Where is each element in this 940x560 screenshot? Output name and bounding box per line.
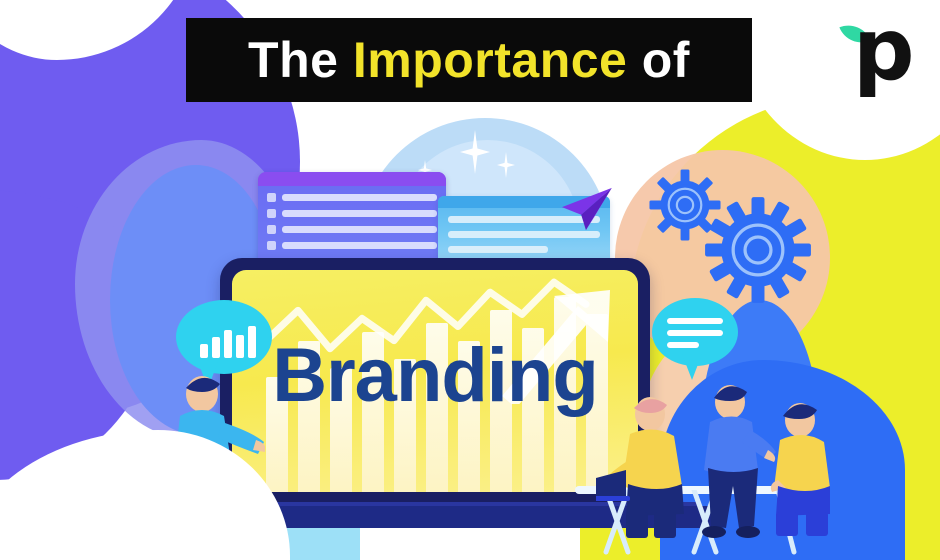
logo-letter: p	[853, 16, 915, 84]
text-line	[282, 210, 437, 217]
bubble-chart-bar	[224, 330, 232, 358]
banner-image: Branding	[0, 0, 940, 560]
text-line	[282, 226, 437, 233]
checklist-row	[267, 193, 437, 202]
bubble-text-line	[667, 342, 699, 348]
bubble-tail	[682, 354, 702, 380]
text-line	[448, 231, 600, 238]
checklist-window	[258, 172, 446, 270]
bubble-text-line	[667, 318, 723, 324]
gear-large-icon	[704, 196, 812, 304]
checklist-row	[267, 241, 437, 250]
title-part-3: of	[627, 32, 690, 88]
bubble-text-line	[667, 330, 723, 336]
laptop-screen: Branding	[232, 270, 638, 492]
checkbox-icon	[267, 193, 276, 202]
title-banner: The Importance of	[186, 18, 752, 102]
bubble-chart-bar	[200, 344, 208, 358]
title-part-1: The	[248, 32, 353, 88]
text-line	[282, 242, 437, 249]
window-titlebar	[258, 172, 446, 186]
person-seated-right	[760, 396, 870, 542]
bubble-chart-bar	[212, 337, 220, 358]
checkbox-icon	[267, 241, 276, 250]
checkbox-icon	[267, 209, 276, 218]
checklist-row	[267, 209, 437, 218]
hero-headline: Branding	[232, 332, 638, 419]
checkbox-icon	[267, 225, 276, 234]
text-line	[282, 194, 437, 201]
title-text: The Importance of	[248, 31, 690, 89]
brand-logo[interactable]: p	[845, 22, 915, 102]
text-line	[448, 246, 548, 253]
text-speech-bubble	[652, 298, 738, 382]
checklist-row	[267, 225, 437, 234]
title-highlight: Importance	[353, 32, 628, 88]
laptop-device: Branding	[220, 258, 650, 506]
paper-plane-icon	[556, 186, 614, 232]
